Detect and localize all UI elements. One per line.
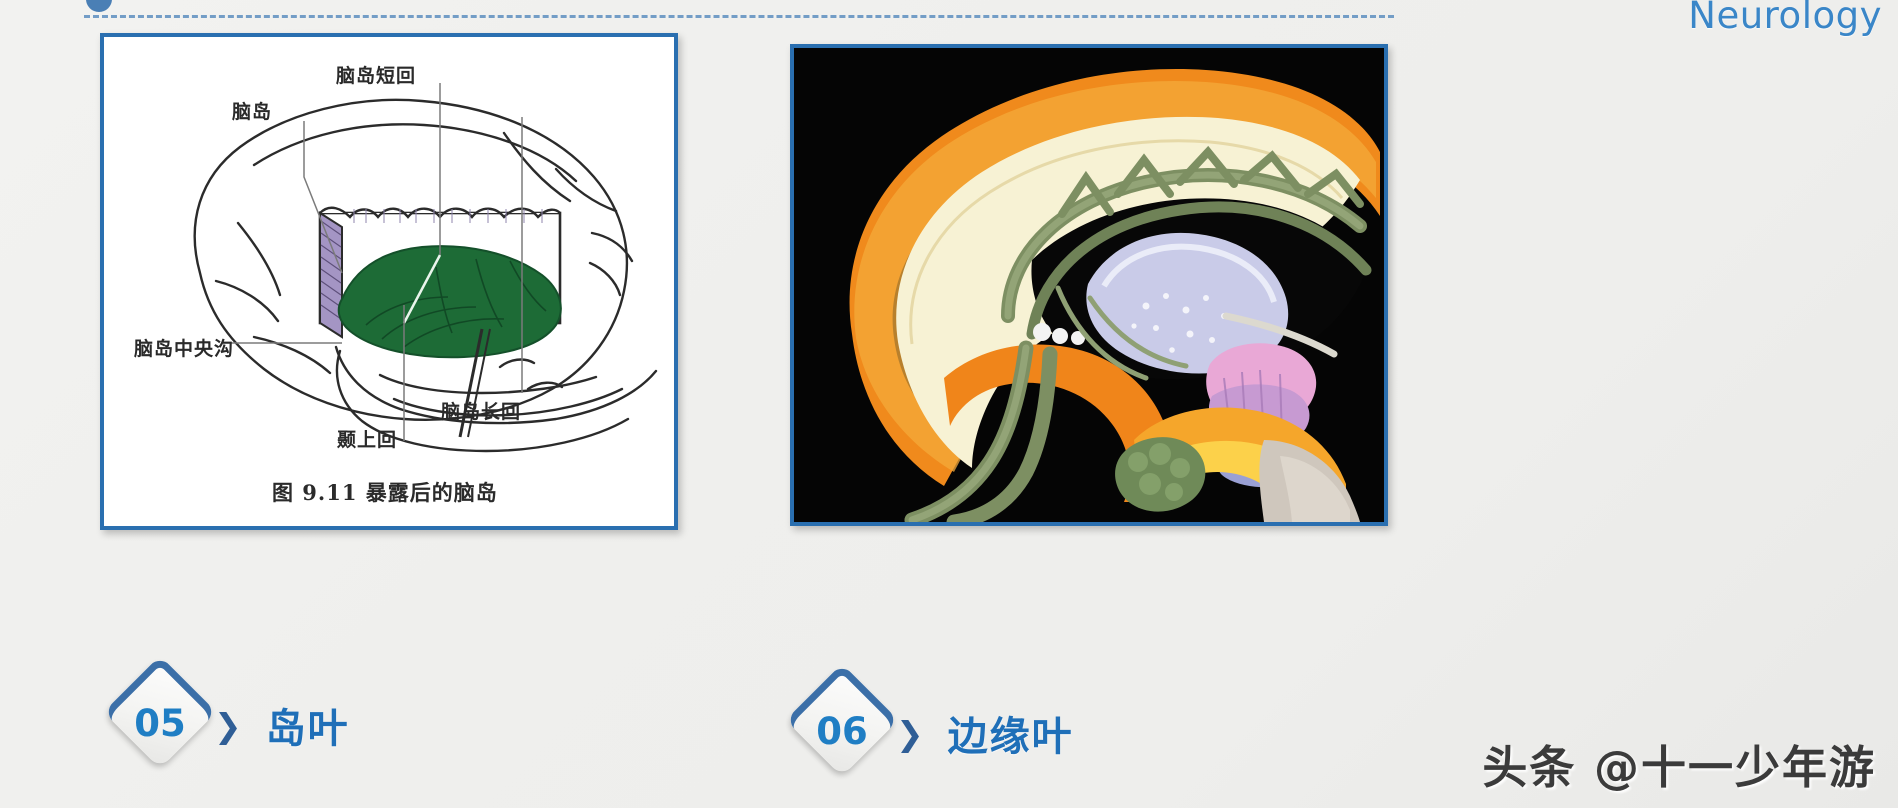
insula-drawing-svg (104, 37, 674, 526)
figure-caption: 图 9.11 暴露后的脑岛 (272, 477, 498, 507)
section-label-06: 边缘叶 (948, 704, 1074, 762)
header-bullet-icon (86, 0, 112, 12)
diamond-badge-06: 06 (790, 668, 894, 772)
label-insula: 脑岛 (232, 97, 272, 124)
section-05[interactable]: 05 ❯ 岛叶 (108, 660, 350, 764)
chevron-right-icon: ❯ (896, 717, 924, 750)
insula-diagram: 脑岛 脑岛短回 脑岛中央沟 脑岛长回 颞上回 图 9.11 暴露后的脑岛 (104, 37, 674, 526)
section-number-05: 05 (134, 702, 186, 745)
header-divider (84, 15, 1394, 18)
label-superior-temporal-gyrus: 颞上回 (337, 425, 397, 452)
diamond-badge-05: 05 (108, 660, 212, 764)
page-title: Neurology (1688, 0, 1882, 37)
insula-figure-card: 脑岛 脑岛短回 脑岛中央沟 脑岛长回 颞上回 图 9.11 暴露后的脑岛 (100, 33, 678, 530)
label-short-gyri: 脑岛短回 (336, 61, 416, 88)
page-header: Neurology (0, 0, 1898, 34)
label-long-gyri: 脑岛长回 (441, 397, 521, 424)
watermark: 头条 @十一少年游 (1482, 731, 1876, 796)
section-06[interactable]: 06 ❯ 边缘叶 (790, 668, 1074, 772)
limbic-figure-card (790, 44, 1388, 526)
section-label-05: 岛叶 (266, 696, 350, 754)
limbic-system-diagram (794, 48, 1384, 522)
chevron-right-icon: ❯ (214, 709, 242, 742)
limbic-drawing-svg (794, 48, 1384, 522)
section-number-06: 06 (816, 710, 868, 753)
label-insular-central-sulcus: 脑岛中央沟 (134, 334, 234, 361)
